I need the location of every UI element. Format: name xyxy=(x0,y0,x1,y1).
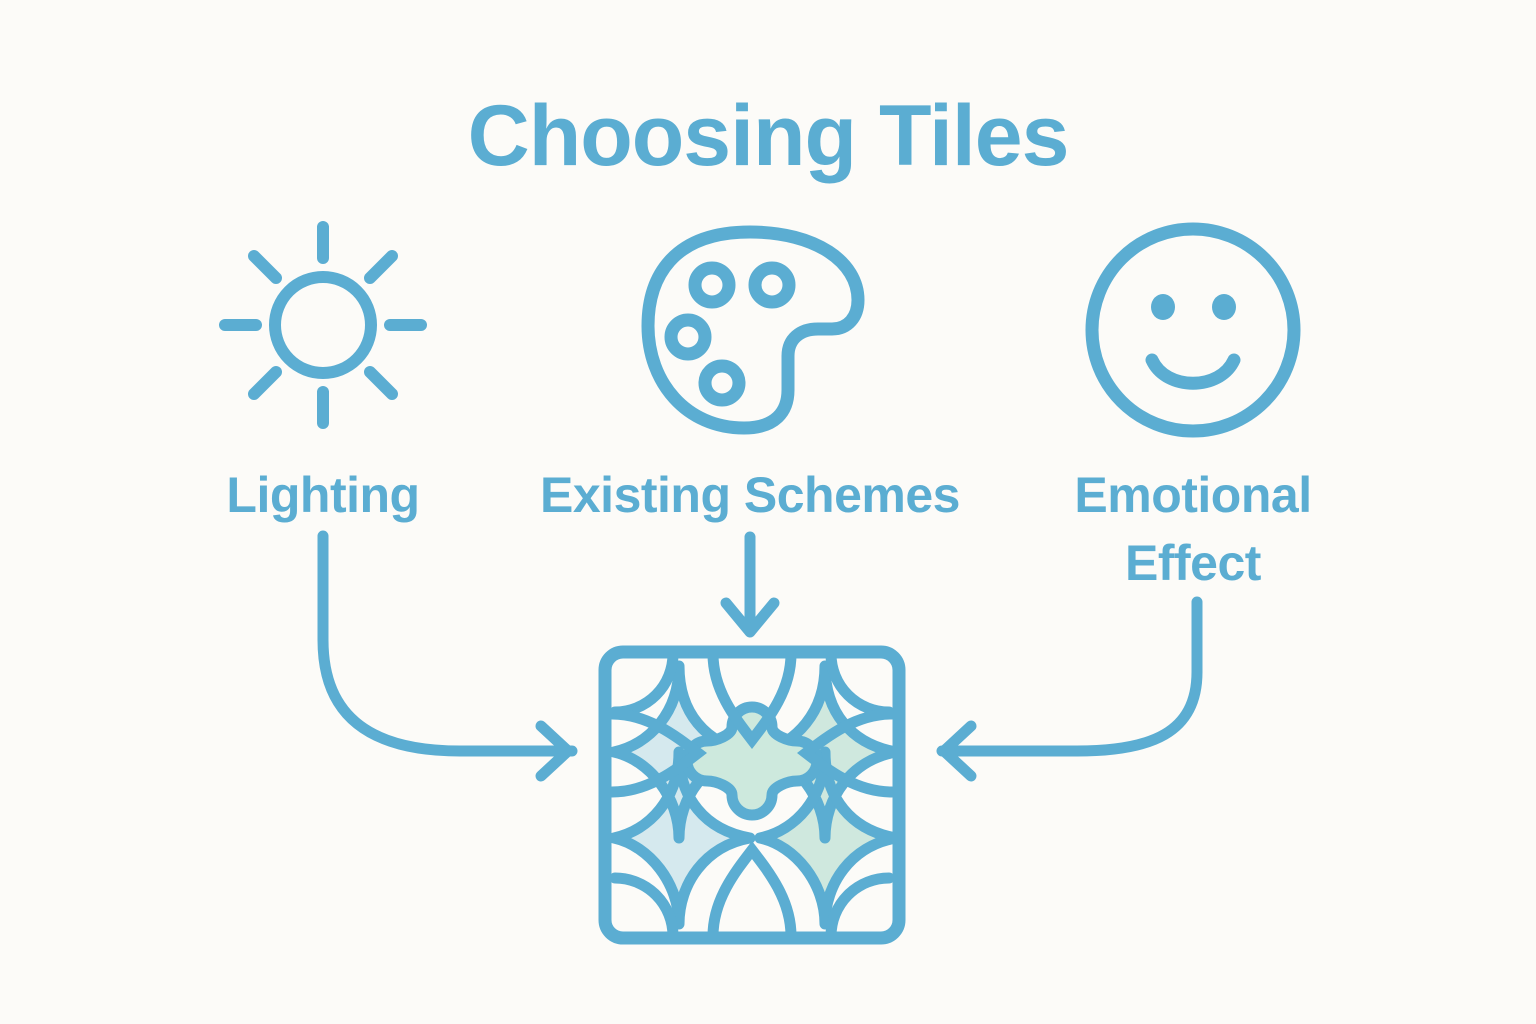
tile-corner-arc-bl xyxy=(615,878,673,936)
tile-edge-arc-bottom xyxy=(713,850,791,936)
tile-corner-arc-tl xyxy=(615,654,673,712)
tile-center-quatrefoil xyxy=(687,707,817,815)
tile-corner-arc-tr xyxy=(831,654,889,712)
tile-corner-arc-br xyxy=(831,878,889,936)
infographic-canvas: Choosing Tiles xyxy=(0,0,1536,1024)
tile-layer xyxy=(0,0,1536,1024)
tile-pattern-icon xyxy=(605,652,899,938)
